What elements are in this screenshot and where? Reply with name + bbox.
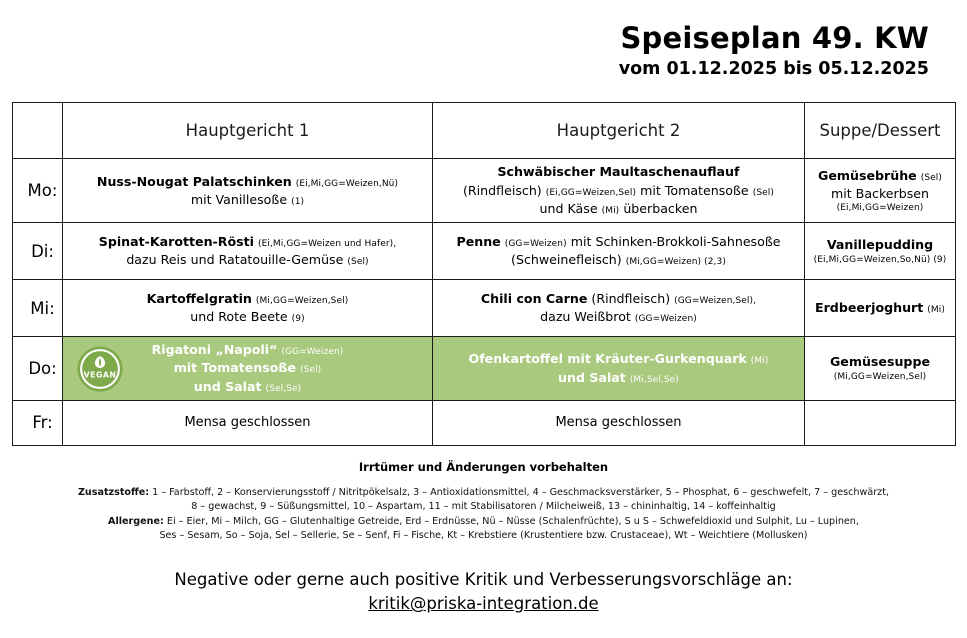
dish-di-main1: Spinat-Karotten-Rösti (Ei,Mi,GG=Weizen u… xyxy=(63,229,432,274)
additives-line-1: Zusatzstoffe: 1 – Farbstoff, 2 – Konserv… xyxy=(0,486,967,500)
dish-detail: mit Vanillesoße xyxy=(191,192,287,207)
dish-name: Chili con Carne xyxy=(481,291,587,306)
vegan-icon: VEGAN xyxy=(77,346,123,392)
dish-detail: und Salat xyxy=(194,379,262,394)
allergen-tag: (Ei,Mi,GG=Weizen,Nü) xyxy=(296,179,398,189)
day-label-di: Di: xyxy=(13,223,63,280)
dish-name: Nuss-Nougat Palatschinken xyxy=(97,174,292,189)
allergen-tag: (Mi,Sel,Se) xyxy=(630,375,679,385)
closed-notice-main2: Mensa geschlossen xyxy=(433,415,804,430)
additive-tag: (9) xyxy=(292,314,305,324)
cell-fr-main1: Mensa geschlossen xyxy=(63,400,433,445)
allergen-tag: (Mi) xyxy=(927,305,945,315)
cell-mo-soup: Gemüsebrühe (Sel) mit Backerbsen (Ei,Mi,… xyxy=(805,159,956,223)
dish-mo-soup: Gemüsebrühe (Sel) mit Backerbsen (Ei,Mi,… xyxy=(805,163,955,219)
additives-text-1: 1 – Farbstoff, 2 – Konservierungsstoff /… xyxy=(149,487,889,498)
dish-mi-soup: Erdbeerjoghurt (Mi) xyxy=(805,295,955,321)
dish-mi-main2: Chili con Carne (Rindfleisch) (GG=Weizen… xyxy=(433,286,804,331)
cell-fr-soup xyxy=(805,400,956,445)
closed-notice-main1: Mensa geschlossen xyxy=(63,415,432,430)
critique-email-link[interactable]: kritik@priska-integration.de xyxy=(368,594,598,613)
table-row: Mi: Kartoffelgratin (Mi,GG=Weizen,Sel) u… xyxy=(13,280,956,337)
dish-mi-main1: Kartoffelgratin (Mi,GG=Weizen,Sel) und R… xyxy=(63,286,432,331)
dish-name: Erdbeerjoghurt xyxy=(815,300,923,315)
dish-detail: mit Backerbsen xyxy=(831,186,929,201)
allergen-tag: (Sel) xyxy=(300,365,321,375)
table-row: Di: Spinat-Karotten-Rösti (Ei,Mi,GG=Weiz… xyxy=(13,223,956,280)
dish-name: Spinat-Karotten-Rösti xyxy=(99,234,254,249)
dish-di-soup: Vanillepudding (Ei,Mi,GG=Weizen,So,Nü) (… xyxy=(805,232,955,270)
table-row: Mo: Nuss-Nougat Palatschinken (Ei,Mi,GG=… xyxy=(13,159,956,223)
cell-mi-main1: Kartoffelgratin (Mi,GG=Weizen,Sel) und R… xyxy=(63,280,433,337)
day-label-mi: Mi: xyxy=(13,280,63,337)
dish-detail: (Rindfleisch) xyxy=(463,183,542,198)
page-subtitle: vom 01.12.2025 bis 05.12.2025 xyxy=(0,59,929,79)
dish-di-main2: Penne (GG=Weizen) mit Schinken-Brokkoli-… xyxy=(433,229,804,274)
allergen-tag: (Sel) xyxy=(753,188,774,198)
allergen-tag: (Ei,GG=Weizen,Sel) xyxy=(546,188,636,198)
allergen-tag: (Mi,GG=Weizen) (2,3) xyxy=(626,257,726,267)
column-header-main1: Hauptgericht 1 xyxy=(63,103,433,159)
critique-block: Negative oder gerne auch positive Kritik… xyxy=(0,568,967,618)
day-label-fr: Fr: xyxy=(13,400,63,445)
cell-mi-soup: Erdbeerjoghurt (Mi) xyxy=(805,280,956,337)
allergen-tag: (Sel) xyxy=(921,173,942,183)
allergens-text-1: Ei – Eier, Mi – Milch, GG – Glutenhaltig… xyxy=(164,516,859,527)
dish-name: Vanillepudding xyxy=(827,237,933,252)
allergen-tag: (Sel) xyxy=(347,257,368,267)
allergen-tag: (Ei,Mi,GG=Weizen,So,Nü) (9) xyxy=(811,254,949,267)
allergen-tag: (Mi) xyxy=(751,356,769,366)
allergen-tag: (Ei,Mi,GG=Weizen) xyxy=(811,202,949,215)
dish-name: Penne xyxy=(456,234,500,249)
dish-detail: und Rote Beete xyxy=(190,309,287,324)
allergen-tag: (Ei,Mi,GG=Weizen und Hafer), xyxy=(258,239,396,249)
page-footer: Irrtümer und Änderungen vorbehalten Zusa… xyxy=(0,460,967,617)
dish-name: Ofenkartoffel mit Kräuter-Gurkenquark xyxy=(468,351,746,366)
menu-table: Hauptgericht 1 Hauptgericht 2 Suppe/Dess… xyxy=(12,102,956,446)
dish-do-soup: Gemüsesuppe (Mi,GG=Weizen,Sel) xyxy=(805,349,955,387)
dish-do-main2: Ofenkartoffel mit Kräuter-Gurkenquark (M… xyxy=(433,346,804,391)
allergens-line-2: Ses – Sesam, So – Soja, Sel – Sellerie, … xyxy=(0,529,967,543)
allergens-label: Allergene: xyxy=(108,516,164,527)
allergen-tag: (GG=Weizen) xyxy=(281,347,343,357)
svg-text:VEGAN: VEGAN xyxy=(84,370,117,379)
allergen-tag: (Mi,GG=Weizen,Sel) xyxy=(811,371,949,384)
dish-name: Kartoffelgratin xyxy=(147,291,252,306)
dish-detail: (Rindfleisch) xyxy=(591,291,670,306)
allergen-tag: (GG=Weizen) xyxy=(505,239,567,249)
cell-do-main2: Ofenkartoffel mit Kräuter-Gurkenquark (M… xyxy=(433,337,805,401)
dish-mo-main2: Schwäbischer Maultaschenauflauf (Rindfle… xyxy=(433,159,804,222)
additives-label: Zusatzstoffe: xyxy=(78,487,149,498)
table-header-row: Hauptgericht 1 Hauptgericht 2 Suppe/Dess… xyxy=(13,103,956,159)
menu-table-body: Mo: Nuss-Nougat Palatschinken (Ei,Mi,GG=… xyxy=(13,159,956,446)
page-header: Speiseplan 49. KW vom 01.12.2025 bis 05.… xyxy=(0,0,967,79)
column-header-soup: Suppe/Dessert xyxy=(805,103,956,159)
column-header-main2: Hauptgericht 2 xyxy=(433,103,805,159)
allergen-tag: (Mi,GG=Weizen,Sel) xyxy=(256,296,348,306)
cell-di-soup: Vanillepudding (Ei,Mi,GG=Weizen,So,Nü) (… xyxy=(805,223,956,280)
additive-tag: (1) xyxy=(291,197,304,207)
table-row: Fr: Mensa geschlossen Mensa geschlossen xyxy=(13,400,956,445)
page-title: Speiseplan 49. KW xyxy=(0,22,929,55)
dish-detail: und Käse xyxy=(540,201,598,216)
allergen-tag: (GG=Weizen,Sel), xyxy=(674,296,756,306)
cell-di-main2: Penne (GG=Weizen) mit Schinken-Brokkoli-… xyxy=(433,223,805,280)
cell-do-main1: VEGAN Rigatoni „Napoli“ (GG=Weizen) mit … xyxy=(63,337,433,401)
allergen-tag: (Sel,Se) xyxy=(266,384,302,394)
dish-detail: und Salat xyxy=(558,370,626,385)
allergen-tag: (Mi) xyxy=(602,206,620,216)
cell-fr-main2: Mensa geschlossen xyxy=(433,400,805,445)
table-row: Do: VEGAN Rigatoni „Napoli“ (GG=Weizen) xyxy=(13,337,956,401)
cell-do-soup: Gemüsesuppe (Mi,GG=Weizen,Sel) xyxy=(805,337,956,401)
allergen-tag: (GG=Weizen) xyxy=(635,314,697,324)
day-label-do: Do: xyxy=(13,337,63,401)
dish-detail: überbacken xyxy=(623,201,697,216)
cell-mi-main2: Chili con Carne (Rindfleisch) (GG=Weizen… xyxy=(433,280,805,337)
additives-line-2: 8 – gewachst, 9 – Süßungsmittel, 10 – As… xyxy=(0,500,967,514)
dish-detail: mit Tomatensoße xyxy=(174,360,296,375)
cell-mo-main2: Schwäbischer Maultaschenauflauf (Rindfle… xyxy=(433,159,805,223)
cell-di-main1: Spinat-Karotten-Rösti (Ei,Mi,GG=Weizen u… xyxy=(63,223,433,280)
dish-name: Rigatoni „Napoli“ xyxy=(152,342,278,357)
dish-detail: dazu Reis und Ratatouille-Gemüse xyxy=(126,252,343,267)
day-label-mo: Mo: xyxy=(13,159,63,223)
menu-plan-container: Hauptgericht 1 Hauptgericht 2 Suppe/Dess… xyxy=(12,102,955,446)
disclaimer-text: Irrtümer und Änderungen vorbehalten xyxy=(0,460,967,474)
dish-mo-main1: Nuss-Nougat Palatschinken (Ei,Mi,GG=Weiz… xyxy=(63,169,432,214)
dish-name: Gemüsesuppe xyxy=(830,354,930,369)
dish-detail: mit Schinken-Brokkoli-Sahnesoße xyxy=(571,234,781,249)
column-header-day xyxy=(13,103,63,159)
critique-text: Negative oder gerne auch positive Kritik… xyxy=(0,568,967,593)
cell-mo-main1: Nuss-Nougat Palatschinken (Ei,Mi,GG=Weiz… xyxy=(63,159,433,223)
dish-detail: (Schweinefleisch) xyxy=(511,252,622,267)
dish-name: Gemüsebrühe xyxy=(818,168,917,183)
legend-block: Zusatzstoffe: 1 – Farbstoff, 2 – Konserv… xyxy=(0,486,967,544)
dish-name: Schwäbischer Maultaschenauflauf xyxy=(497,164,739,179)
allergens-line-1: Allergene: Ei – Eier, Mi – Milch, GG – G… xyxy=(0,515,967,529)
dish-detail: dazu Weißbrot xyxy=(540,309,631,324)
dish-detail: mit Tomatensoße xyxy=(640,183,749,198)
